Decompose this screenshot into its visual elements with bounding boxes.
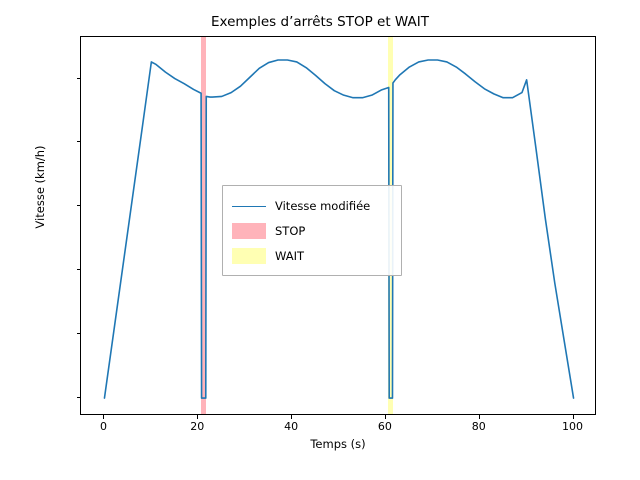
x-tick-label: 60: [378, 420, 392, 433]
x-tick-label: 80: [472, 420, 486, 433]
x-axis-label: Temps (s): [80, 437, 596, 451]
x-tick-label: 100: [562, 420, 583, 433]
x-tick-mark: [479, 415, 480, 419]
x-tick-label: 40: [284, 420, 298, 433]
legend-label-stop: STOP: [275, 224, 305, 238]
y-tick-mark: [77, 397, 81, 398]
x-tick-mark: [103, 415, 104, 419]
legend-item-wait: WAIT: [232, 243, 392, 268]
legend-item-line: Vitesse modifiée: [232, 193, 392, 218]
y-tick-mark: [77, 205, 81, 206]
legend-item-stop: STOP: [232, 218, 392, 243]
x-tick-mark: [291, 415, 292, 419]
chart-title: Exemples d’arrêts STOP et WAIT: [0, 14, 640, 30]
y-tick-mark: [77, 269, 81, 270]
legend-wait-swatch-icon: [232, 248, 266, 264]
y-tick-mark: [77, 78, 81, 79]
x-tick-mark: [385, 415, 386, 419]
x-tick-mark: [197, 415, 198, 419]
y-tick-mark: [77, 141, 81, 142]
legend-line-swatch-icon: [232, 198, 266, 214]
legend-label-wait: WAIT: [275, 249, 304, 263]
legend-stop-swatch-icon: [232, 223, 266, 239]
x-tick-label: 20: [190, 420, 204, 433]
x-tick-label: 0: [100, 420, 107, 433]
chart-figure: Exemples d’arrêts STOP et WAIT 020406080…: [0, 0, 640, 480]
y-axis-label: Vitesse (km/h): [33, 87, 47, 287]
y-tick-mark: [77, 333, 81, 334]
legend-label-vitesse: Vitesse modifiée: [275, 199, 370, 213]
x-tick-mark: [573, 415, 574, 419]
chart-legend: Vitesse modifiée STOP WAIT: [222, 185, 402, 276]
